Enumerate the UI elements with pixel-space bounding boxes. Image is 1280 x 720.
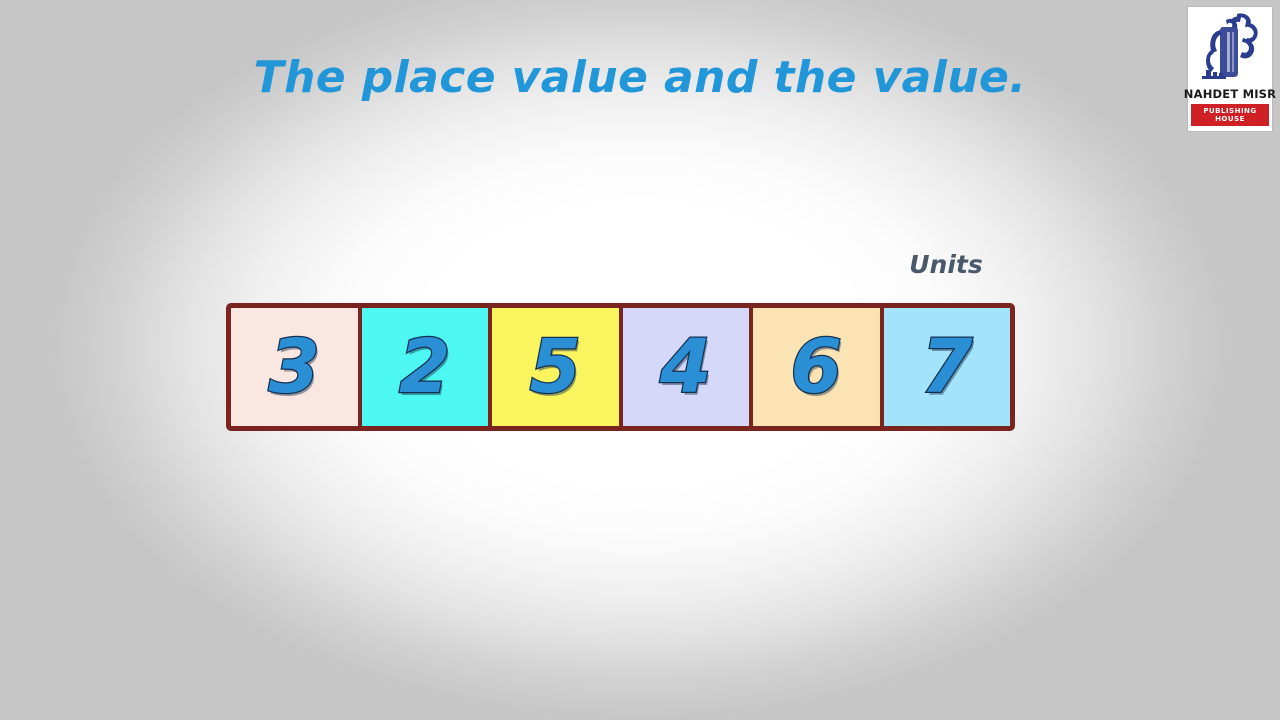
place-value-chart: 3 2 5 4 6 7 bbox=[226, 303, 1015, 431]
logo-banner-text: PUBLISHING HOUSE bbox=[1191, 104, 1269, 126]
digit-cell-6[interactable]: 7 bbox=[884, 308, 1011, 426]
digit-value-4: 4 bbox=[660, 330, 712, 404]
digit-cell-1[interactable]: 3 bbox=[231, 308, 362, 426]
nahdet-misr-figure-icon bbox=[1190, 10, 1270, 86]
digit-value-6: 7 bbox=[921, 330, 973, 404]
digit-value-5: 6 bbox=[791, 330, 843, 404]
digit-value-2: 2 bbox=[399, 330, 451, 404]
digit-value-1: 3 bbox=[269, 330, 321, 404]
page-title: The place value and the value. bbox=[0, 52, 1280, 103]
digit-value-3: 5 bbox=[530, 330, 582, 404]
digit-cell-5[interactable]: 6 bbox=[753, 308, 884, 426]
publisher-logo: NAHDET MISR PUBLISHING HOUSE bbox=[1187, 6, 1273, 132]
digit-cell-2[interactable]: 2 bbox=[362, 308, 493, 426]
place-value-column-label-units: Units bbox=[880, 250, 1012, 279]
logo-name-text: NAHDET MISR bbox=[1184, 87, 1276, 101]
digit-cell-3[interactable]: 5 bbox=[492, 308, 623, 426]
digit-cell-4[interactable]: 4 bbox=[623, 308, 754, 426]
